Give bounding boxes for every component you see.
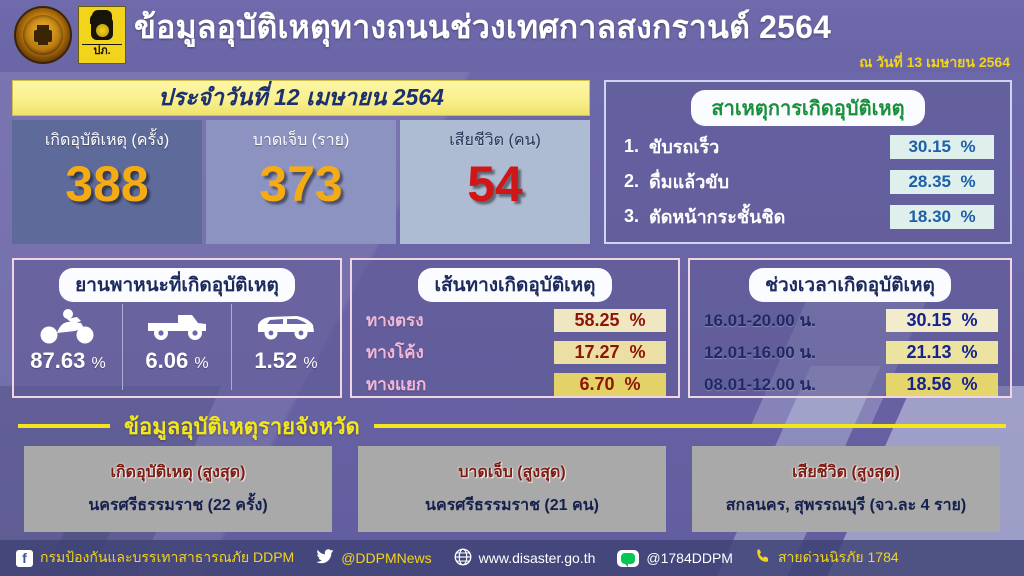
vehicle-percent-unit: %: [303, 355, 317, 372]
time-label: 08.01-12.00 น.: [704, 371, 816, 398]
vehicle-item-car: 1.52 %: [232, 304, 340, 390]
vehicle-percent-number: 1.52: [254, 348, 297, 373]
stat-label: บาดเจ็บ (ราย): [253, 128, 350, 153]
province-box-value: นครศรีธรรมราช (21 คน): [425, 493, 599, 518]
province-box-title: เสียชีวิต (สูงสุด): [792, 460, 900, 485]
footer-twitter[interactable]: @DDPMNews: [316, 549, 431, 567]
vehicle-percent-unit: %: [194, 355, 208, 372]
footer-line-label: @1784DDPM: [646, 550, 733, 566]
footer-hotline[interactable]: สายด่วนนิรภัย 1784: [755, 547, 899, 569]
vehicle-percent-unit: %: [91, 355, 105, 372]
province-box-injured: บาดเจ็บ (สูงสุด) นครศรีธรรมราช (21 คน): [358, 446, 666, 532]
time-row: 08.01-12.00 น. 18.56 %: [704, 371, 998, 398]
footer-facebook[interactable]: f กรมป้องกันและบรรเทาสาธารณภัย DDPM: [16, 547, 294, 569]
province-box-title: เกิดอุบัติเหตุ (สูงสุด): [111, 460, 246, 485]
route-value: 58.25 %: [554, 309, 666, 332]
route-row: ทางตรง 58.25 %: [366, 307, 666, 334]
pickup-truck-icon: [144, 304, 210, 348]
footer-line[interactable]: @1784DDPM: [617, 550, 733, 567]
cause-value: 30.15 %: [890, 135, 994, 159]
time-value-unit: %: [962, 310, 978, 330]
ddpm-logo-label: ปภ.: [82, 44, 122, 58]
province-box-value: สกลนคร, สุพรรณบุรี (จว.ละ 4 ราย): [726, 493, 967, 518]
divider-line-left: [18, 424, 110, 428]
daily-summary-stats: เกิดอุบัติเหตุ (ครั้ง) 388 บาดเจ็บ (ราย)…: [12, 120, 590, 244]
route-value-number: 17.27: [574, 342, 619, 362]
cause-row: 1. ขับรถเร็ว 30.15 %: [624, 132, 994, 161]
cause-value: 18.30 %: [890, 205, 994, 229]
province-section-header: ข้อมูลอุบัติเหตุรายจังหวัด: [0, 410, 1024, 442]
line-icon[interactable]: [617, 550, 639, 567]
route-label: ทางตรง: [366, 307, 424, 334]
cause-rank: 1.: [624, 136, 639, 157]
page-title: ข้อมูลอุบัติเหตุทางถนนช่วงเทศกาลสงกรานต์…: [134, 5, 831, 49]
thai-government-seal-icon: [14, 6, 72, 64]
cause-value-unit: %: [960, 172, 975, 191]
cause-label: ขับรถเร็ว: [649, 132, 719, 161]
route-value: 6.70 %: [554, 373, 666, 396]
vehicle-percent: 1.52 %: [254, 348, 317, 374]
date-banner: ประจำวันที่ 12 เมษายน 2564: [12, 80, 590, 116]
province-box-title: บาดเจ็บ (สูงสุด): [458, 460, 565, 485]
cause-row: 3. ตัดหน้ากระชั้นชิด 18.30 %: [624, 202, 994, 231]
route-row: ทางแยก 6.70 %: [366, 371, 666, 398]
time-value: 18.56 %: [886, 373, 998, 396]
globe-icon[interactable]: [454, 548, 472, 569]
stat-card-accidents: เกิดอุบัติเหตุ (ครั้ง) 388: [12, 120, 202, 244]
page-footer: f กรมป้องกันและบรรเทาสาธารณภัย DDPM @DDP…: [0, 540, 1024, 576]
time-value-number: 21.13: [906, 342, 951, 362]
cause-label: ตัดหน้ากระชั้นชิด: [649, 202, 785, 231]
time-value: 21.13 %: [886, 341, 998, 364]
province-section-title: ข้อมูลอุบัติเหตุรายจังหวัด: [124, 409, 360, 444]
stat-card-deaths: เสียชีวิต (คน) 54: [400, 120, 590, 244]
stat-label: เสียชีวิต (คน): [449, 128, 541, 153]
time-value-unit: %: [962, 342, 978, 362]
time-value-unit: %: [962, 374, 978, 394]
facebook-icon[interactable]: f: [16, 550, 33, 567]
causes-panel: สาเหตุการเกิดอุบัติเหตุ 1. ขับรถเร็ว 30.…: [604, 80, 1012, 244]
cause-rank: 2.: [624, 171, 639, 192]
route-label: ทางแยก: [366, 371, 426, 398]
routes-panel: เส้นทางเกิดอุบัติเหตุ ทางตรง 58.25 % ทาง…: [350, 258, 680, 398]
cause-label: ดื่มแล้วขับ: [649, 167, 729, 196]
province-box-accidents: เกิดอุบัติเหตุ (สูงสุด) นครศรีธรรมราช (2…: [24, 446, 332, 532]
stat-value: 373: [259, 153, 342, 215]
vehicles-panel-heading: ยานพาหนะที่เกิดอุบัติเหตุ: [59, 268, 295, 302]
motorcycle-icon: [37, 304, 99, 348]
time-periods-panel-heading: ช่วงเวลาเกิดอุบัติเหตุ: [749, 268, 951, 302]
cause-value-unit: %: [960, 137, 975, 156]
time-row: 16.01-20.00 น. 30.15 %: [704, 307, 998, 334]
route-value-unit: %: [630, 342, 646, 362]
route-value-unit: %: [625, 374, 641, 394]
cause-row: 2. ดื่มแล้วขับ 28.35 %: [624, 167, 994, 196]
vehicle-item-motorcycle: 87.63 %: [14, 304, 123, 390]
as-of-date: ณ วันที่ 13 เมษายน 2564: [859, 52, 1010, 74]
cause-value-unit: %: [960, 207, 975, 226]
time-value: 30.15 %: [886, 309, 998, 332]
cause-value-number: 28.35: [908, 172, 951, 191]
vehicles-panel: ยานพาหนะที่เกิดอุบัติเหตุ 87.63 %: [12, 258, 342, 398]
twitter-icon[interactable]: [316, 549, 334, 567]
ddpm-logo-icon: ปภ.: [78, 6, 126, 64]
footer-twitter-label: @DDPMNews: [341, 550, 431, 566]
stat-value: 388: [65, 153, 148, 215]
route-value-number: 58.25: [574, 310, 619, 330]
routes-panel-heading: เส้นทางเกิดอุบัติเหตุ: [418, 268, 611, 302]
cause-rank: 3.: [624, 206, 639, 227]
route-value-number: 6.70: [579, 374, 614, 394]
stat-label: เกิดอุบัติเหตุ (ครั้ง): [45, 128, 169, 153]
time-label: 16.01-20.00 น.: [704, 307, 816, 334]
date-banner-text: ประจำวันที่ 12 เมษายน 2564: [158, 80, 444, 116]
infographic-page: ปภ. ข้อมูลอุบัติเหตุทางถนนช่วงเทศกาลสงกร…: [0, 0, 1024, 576]
cause-value: 28.35 %: [890, 170, 994, 194]
route-label: ทางโค้ง: [366, 339, 424, 366]
province-box-deaths: เสียชีวิต (สูงสุด) สกลนคร, สุพรรณบุรี (จ…: [692, 446, 1000, 532]
page-header: ปภ. ข้อมูลอุบัติเหตุทางถนนช่วงเทศกาลสงกร…: [0, 0, 1024, 72]
stat-card-injured: บาดเจ็บ (ราย) 373: [206, 120, 396, 244]
vehicle-item-pickup: 6.06 %: [123, 304, 232, 390]
divider-line-right: [374, 424, 1006, 428]
time-value-number: 18.56: [906, 374, 951, 394]
stat-value: 54: [467, 153, 523, 215]
causes-panel-heading: สาเหตุการเกิดอุบัติเหตุ: [691, 90, 924, 126]
time-periods-panel: ช่วงเวลาเกิดอุบัติเหตุ 16.01-20.00 น. 30…: [688, 258, 1012, 398]
vehicle-percent: 6.06 %: [145, 348, 208, 374]
route-value: 17.27 %: [554, 341, 666, 364]
vehicle-percent-number: 6.06: [145, 348, 188, 373]
route-value-unit: %: [630, 310, 646, 330]
car-icon: [253, 304, 319, 348]
cause-value-number: 18.30: [908, 207, 951, 226]
footer-website-label: www.disaster.go.th: [479, 550, 596, 566]
vehicle-percent-number: 87.63: [30, 348, 85, 373]
route-row: ทางโค้ง 17.27 %: [366, 339, 666, 366]
time-label: 12.01-16.00 น.: [704, 339, 816, 366]
cause-value-number: 30.15: [908, 137, 951, 156]
footer-website[interactable]: www.disaster.go.th: [454, 548, 596, 569]
time-value-number: 30.15: [906, 310, 951, 330]
footer-hotline-label: สายด่วนนิรภัย 1784: [778, 547, 899, 569]
time-row: 12.01-16.00 น. 21.13 %: [704, 339, 998, 366]
province-boxes: เกิดอุบัติเหตุ (สูงสุด) นครศรีธรรมราช (2…: [0, 446, 1024, 532]
footer-facebook-label: กรมป้องกันและบรรเทาสาธารณภัย DDPM: [40, 547, 294, 569]
phone-icon[interactable]: [755, 548, 771, 568]
province-box-value: นครศรีธรรมราช (22 ครั้ง): [88, 493, 267, 518]
vehicle-percent: 87.63 %: [30, 348, 105, 374]
